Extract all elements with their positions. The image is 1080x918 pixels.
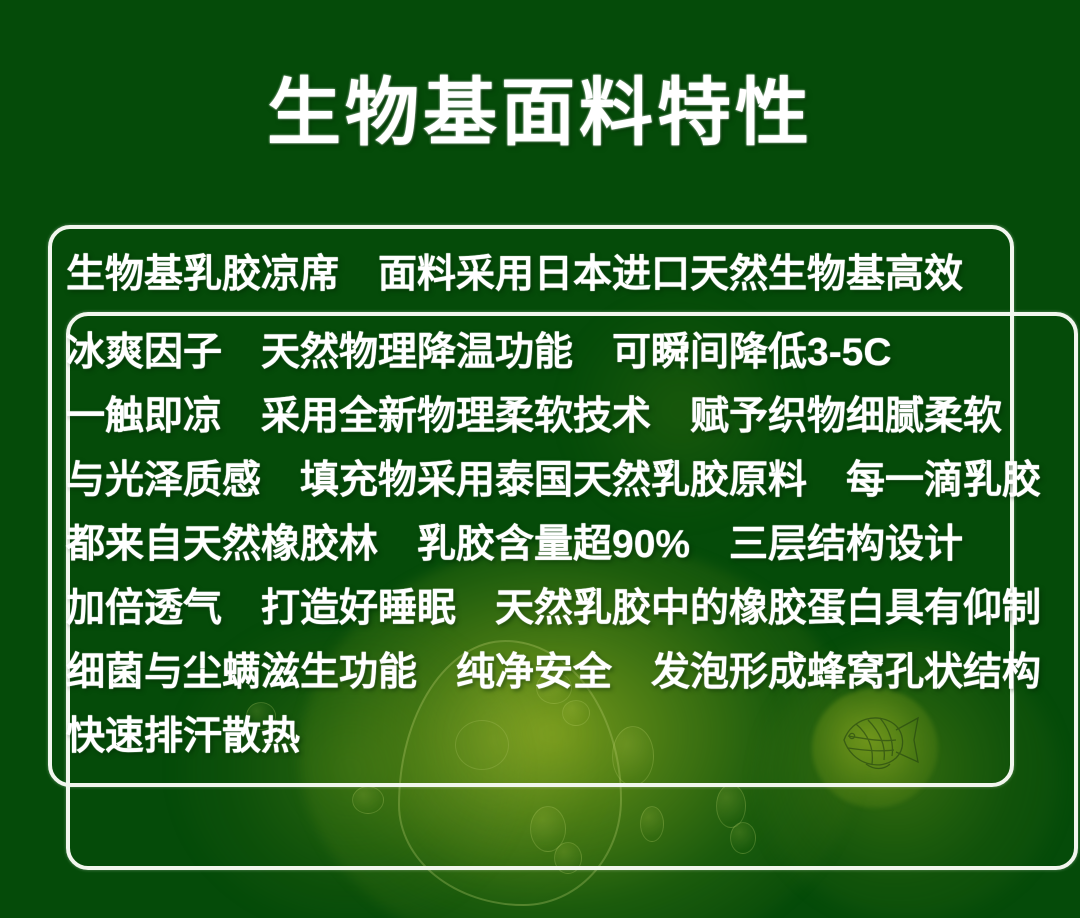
- feature-text-block: 生物基乳胶凉席 面料采用日本进口天然生物基高效 冰爽因子 天然物理降温功能 可瞬…: [66, 243, 1076, 769]
- feature-line: 生物基乳胶凉席 面料采用日本进口天然生物基高效: [66, 243, 1076, 307]
- page-title-container: 生物基面料特性: [0, 72, 1080, 155]
- feature-line: 冰爽因子 天然物理降温功能 可瞬间降低3-5C: [66, 321, 1076, 385]
- feature-line: 一触即凉 采用全新物理柔软技术 赋予织物细腻柔软: [66, 385, 1076, 449]
- poster-canvas: 生物基面料特性 生物基乳胶凉席 面料采用日本进口天然生物基高效 冰爽因子 天然物…: [0, 0, 1080, 918]
- feature-line: 细菌与尘螨滋生功能 纯净安全 发泡形成蜂窝孔状结构: [66, 641, 1076, 705]
- feature-line: 加倍透气 打造好睡眠 天然乳胶中的橡胶蛋白具有仰制: [66, 577, 1076, 641]
- feature-line: 都来自天然橡胶林 乳胶含量超90% 三层结构设计: [66, 513, 1076, 577]
- feature-line: 快速排汗散热: [66, 705, 1076, 769]
- page-title: 生物基面料特性: [267, 72, 813, 155]
- feature-line: 与光泽质感 填充物采用泰国天然乳胶原料 每一滴乳胶: [66, 449, 1076, 513]
